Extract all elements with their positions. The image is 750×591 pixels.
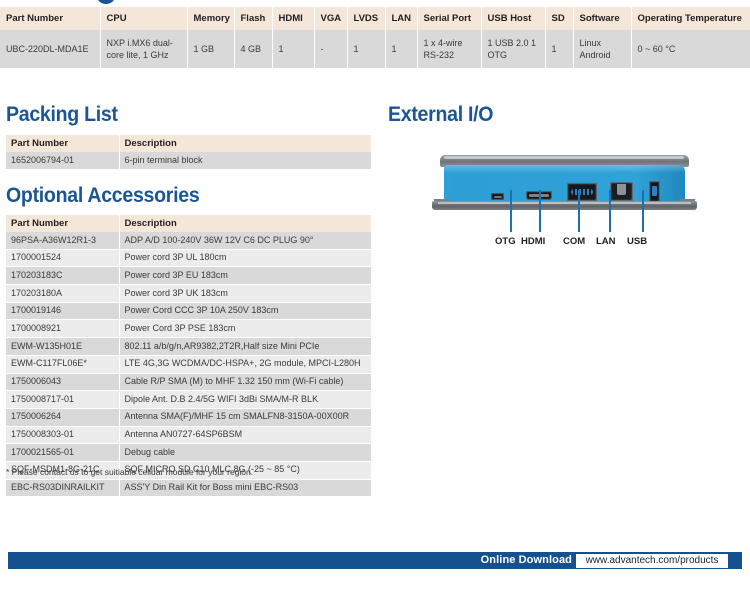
col-header-lan: LAN bbox=[385, 7, 417, 30]
packing-list-table-wrapper: Part Number Description 1652006794-01 6-… bbox=[6, 135, 371, 170]
usb-port-icon bbox=[649, 181, 660, 202]
table-row: 170203180APower cord 3P UK 183cm bbox=[6, 285, 371, 303]
leader-line-otg bbox=[510, 190, 512, 232]
cell-description: ADP A/D 100-240V 36W 12V C6 DC PLUG 90° bbox=[119, 232, 371, 249]
cell-cpu: NXP i.MX6 dual-core lite, 1 GHz bbox=[100, 30, 187, 68]
col-header-cpu: CPU bbox=[100, 7, 187, 30]
col-header-part-number: Part Number bbox=[0, 7, 100, 30]
table-row: 1750008717-01Dipole Ant. D.B 2.4/5G WIFI… bbox=[6, 391, 371, 409]
table-row: 1750006043Cable R/P SMA (M) to MHF 1.32 … bbox=[6, 373, 371, 391]
cell-software: Linux Android bbox=[573, 30, 631, 68]
table-row: 170203183CPower cord 3P EU 183cm bbox=[6, 267, 371, 285]
otg-port-icon bbox=[491, 193, 504, 200]
cell-description: LTE 4G,3G WCDMA/DC-HSPA+, 2G module, MPC… bbox=[119, 355, 371, 373]
cell-part-number: 1700019146 bbox=[6, 302, 119, 320]
table-row: EWM-W135H01E802.11 a/b/g/n,AR9382,2T2R,H… bbox=[6, 338, 371, 356]
table-header-row: Part Number CPU Memory Flash HDMI VGA LV… bbox=[0, 7, 750, 30]
cell-description: Antenna SMA(F)/MHF 15 cm SMALFN8-3150A-0… bbox=[119, 408, 371, 426]
table-row: EWM-C117FL06E*LTE 4G,3G WCDMA/DC-HSPA+, … bbox=[6, 355, 371, 373]
table-row: 1700021565-01Debug cable bbox=[6, 444, 371, 462]
io-label-lan: LAN bbox=[596, 236, 616, 247]
cell-part-number: 1750006264 bbox=[6, 408, 119, 426]
cell-part-number: 1750006043 bbox=[6, 373, 119, 391]
cell-flash: 4 GB bbox=[234, 30, 272, 68]
cell-part-number: EWM-C117FL06E* bbox=[6, 355, 119, 373]
cell-description: Cable R/P SMA (M) to MHF 1.32 150 mm (Wi… bbox=[119, 373, 371, 391]
col-header-description: Description bbox=[119, 215, 371, 232]
col-header-lvds: LVDS bbox=[347, 7, 385, 30]
io-label-com: COM bbox=[563, 236, 585, 247]
col-header-vga: VGA bbox=[314, 7, 347, 30]
io-label-otg: OTG bbox=[495, 236, 516, 247]
com-port-icon bbox=[567, 183, 597, 201]
cell-description: Power cord 3P UK 183cm bbox=[119, 285, 371, 303]
online-download-label: Online Download bbox=[481, 554, 572, 566]
cell-sd: 1 bbox=[545, 30, 573, 68]
cell-description: Antenna AN0727-64SP6BSM bbox=[119, 426, 371, 444]
cell-description: Power cord 3P UL 180cm bbox=[119, 249, 371, 267]
table-row: 1652006794-01 6-pin terminal block bbox=[6, 152, 371, 169]
cell-part-number: 1750008717-01 bbox=[6, 391, 119, 409]
device-top-highlight bbox=[444, 156, 684, 159]
cell-part-number: UBC-220DL-MDA1E bbox=[0, 30, 100, 68]
col-header-usb-host: USB Host bbox=[481, 7, 545, 30]
lan-port-icon bbox=[610, 182, 633, 201]
cell-hdmi: 1 bbox=[272, 30, 314, 68]
cell-vga: - bbox=[314, 30, 347, 68]
cell-part-number: 1652006794-01 bbox=[6, 152, 119, 169]
table-row: 1700019146Power Cord CCC 3P 10A 250V 183… bbox=[6, 302, 371, 320]
col-header-memory: Memory bbox=[187, 7, 234, 30]
table-header-row: Part Number Description bbox=[6, 215, 371, 232]
col-header-flash: Flash bbox=[234, 7, 272, 30]
col-header-serial-port: Serial Port bbox=[417, 7, 481, 30]
cell-part-number: 1700001524 bbox=[6, 249, 119, 267]
col-header-description: Description bbox=[119, 135, 371, 152]
cell-description: 6-pin terminal block bbox=[119, 152, 371, 169]
cell-description: ASS'Y Din Rail Kit for Boss mini EBC-RS0… bbox=[119, 479, 371, 497]
col-header-operating-temperature: Operating Temperature bbox=[631, 7, 750, 30]
cell-usb-host: 1 USB 2.0 1 OTG bbox=[481, 30, 545, 68]
cell-description: 802.11 a/b/g/n,AR9382,2T2R,Half size Min… bbox=[119, 338, 371, 356]
specification-table-wrapper: Part Number CPU Memory Flash HDMI VGA LV… bbox=[0, 7, 750, 68]
col-header-sd: SD bbox=[545, 7, 573, 30]
cell-description: Power Cord 3P PSE 183cm bbox=[119, 320, 371, 338]
device-illustration bbox=[432, 155, 697, 217]
table-row: 1750006264Antenna SMA(F)/MHF 15 cm SMALF… bbox=[6, 408, 371, 426]
io-label-usb: USB bbox=[627, 236, 647, 247]
cell-part-number: 1700021565-01 bbox=[6, 444, 119, 462]
packing-list-title: Packing List bbox=[6, 103, 118, 127]
footer-url-link[interactable]: www.advantech.com/products bbox=[576, 555, 728, 566]
col-header-part-number: Part Number bbox=[6, 135, 119, 152]
cell-lan: 1 bbox=[385, 30, 417, 68]
table-header-row: Part Number Description bbox=[6, 135, 371, 152]
cell-part-number: 1700008921 bbox=[6, 320, 119, 338]
cell-part-number: 170203183C bbox=[6, 267, 119, 285]
device-body bbox=[444, 165, 685, 203]
col-header-part-number: Part Number bbox=[6, 215, 119, 232]
cell-part-number: EBC-RS03DINRAILKIT bbox=[6, 479, 119, 497]
cell-description: Dipole Ant. D.B 2.4/5G WIFI 3dBi SMA/M-R… bbox=[119, 391, 371, 409]
leader-line-lan bbox=[609, 190, 611, 232]
packing-list-table: Part Number Description 1652006794-01 6-… bbox=[6, 135, 371, 170]
table-row: 1700001524Power cord 3P UL 180cm bbox=[6, 249, 371, 267]
cell-description: Power Cord CCC 3P 10A 250V 183cm bbox=[119, 302, 371, 320]
cell-lvds: 1 bbox=[347, 30, 385, 68]
table-row: 1750008303-01Antenna AN0727-64SP6BSM bbox=[6, 426, 371, 444]
optional-accessories-table-wrapper: Part Number Description 96PSA-A36W12R1-3… bbox=[6, 215, 371, 497]
cell-part-number: EWM-W135H01E bbox=[6, 338, 119, 356]
table-row: 1700008921Power Cord 3P PSE 183cm bbox=[6, 320, 371, 338]
io-label-hdmi: HDMI bbox=[521, 236, 545, 247]
device-body-sheen bbox=[444, 165, 685, 173]
cell-description: Power cord 3P EU 183cm bbox=[119, 267, 371, 285]
top-decoration bbox=[96, 0, 116, 4]
cell-part-number: 1750008303-01 bbox=[6, 426, 119, 444]
leader-line-usb bbox=[642, 190, 644, 232]
cell-memory: 1 GB bbox=[187, 30, 234, 68]
cell-operating-temperature: 0 ~ 60 °C bbox=[631, 30, 750, 68]
optional-accessories-title: Optional Accessories bbox=[6, 184, 199, 208]
cell-description: Debug cable bbox=[119, 444, 371, 462]
external-io-title: External I/O bbox=[388, 103, 493, 127]
table-row: 96PSA-A36W12R1-3ADP A/D 100-240V 36W 12V… bbox=[6, 232, 371, 249]
cell-part-number: 170203180A bbox=[6, 285, 119, 303]
table-row: UBC-220DL-MDA1E NXP i.MX6 dual-core lite… bbox=[0, 30, 750, 68]
optional-accessories-table: Part Number Description 96PSA-A36W12R1-3… bbox=[6, 215, 371, 497]
cell-serial-port: 1 x 4-wire RS-232 bbox=[417, 30, 481, 68]
cell-part-number: 96PSA-A36W12R1-3 bbox=[6, 232, 119, 249]
optional-accessories-footnote: * Please contact us to get suitiable cel… bbox=[6, 467, 253, 477]
col-header-software: Software bbox=[573, 7, 631, 30]
device-base-highlight bbox=[438, 202, 691, 204]
specification-table: Part Number CPU Memory Flash HDMI VGA LV… bbox=[0, 7, 750, 68]
table-row: EBC-RS03DINRAILKITASS'Y Din Rail Kit for… bbox=[6, 479, 371, 497]
col-header-hdmi: HDMI bbox=[272, 7, 314, 30]
leader-line-com bbox=[578, 190, 580, 232]
leader-line-hdmi bbox=[539, 190, 541, 232]
